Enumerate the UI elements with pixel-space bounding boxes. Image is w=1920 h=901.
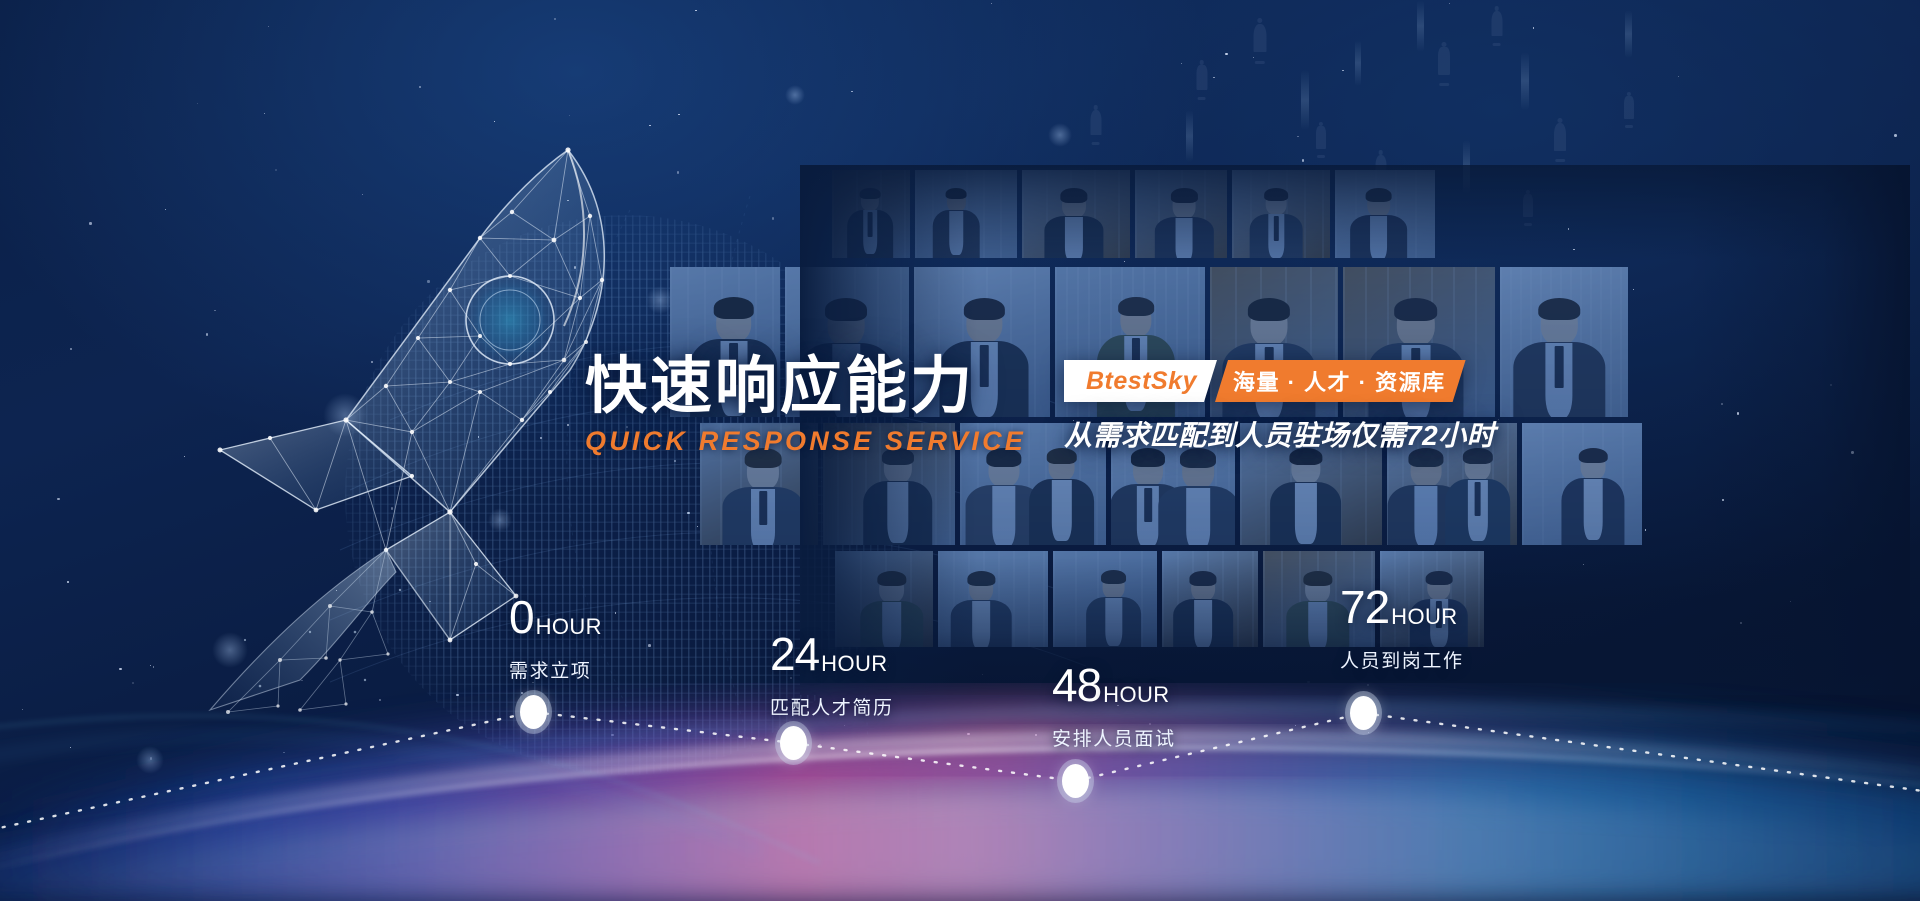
milestone-unit: HOUR: [1391, 604, 1457, 630]
people-silhouette-icon: [1316, 122, 1326, 158]
person-photo: [832, 170, 910, 258]
timeline-dot-icon[interactable]: [1350, 696, 1377, 730]
page-subtitle-en: QUICK RESPONSE SERVICE: [585, 426, 1026, 457]
brand-badge: BtestSky 海量 · 人才 · 资源库: [1064, 360, 1466, 402]
timeline-dot-icon[interactable]: [780, 726, 807, 760]
headline-block: 快速响应能力 QUICK RESPONSE SERVICE: [585, 355, 1026, 457]
milestone-label: 需求立项: [509, 656, 602, 683]
timeline-milestone[interactable]: 0HOUR需求立项: [509, 594, 602, 683]
people-silhouette-icon: [1438, 42, 1450, 86]
person-photo: [938, 551, 1048, 647]
timeline-milestone[interactable]: 48HOUR安排人员面试: [1052, 662, 1176, 751]
person-photo: [915, 170, 1017, 258]
light-bar-decoration: [1301, 70, 1309, 130]
light-bar-decoration: [1355, 40, 1361, 86]
light-bar-decoration: [1417, 0, 1424, 52]
timeline-dot-icon[interactable]: [520, 695, 547, 729]
people-silhouette-icon: [1196, 60, 1207, 100]
banner-subtitle: 从需求匹配到人员驻场仅需72小时: [1064, 414, 1495, 454]
light-bar-decoration: [1463, 140, 1470, 194]
person-photo: [1335, 170, 1435, 258]
light-bar-decoration: [1186, 110, 1193, 162]
hero-banner: 快速响应能力 QUICK RESPONSE SERVICE BtestSky 海…: [0, 0, 1920, 901]
brand-name: BtestSky: [1064, 360, 1217, 402]
people-silhouette-icon: [1554, 118, 1566, 162]
page-title: 快速响应能力: [585, 355, 1026, 417]
person-photo: [1022, 170, 1130, 258]
brand-tagline: 海量 · 人才 · 资源库: [1215, 360, 1466, 402]
milestone-hours: 72: [1340, 584, 1389, 630]
light-bar-decoration: [1625, 10, 1632, 58]
milestone-hours: 24: [770, 631, 819, 677]
timeline-milestone[interactable]: 72HOUR人员到岗工作: [1340, 584, 1464, 673]
timeline-dot-icon[interactable]: [1062, 764, 1089, 798]
milestone-hours: 48: [1052, 662, 1101, 708]
people-silhouette-icon: [1491, 6, 1502, 46]
people-silhouette-icon: [1624, 92, 1634, 128]
milestone-hours: 0: [509, 594, 534, 640]
people-silhouette-icon: [1090, 105, 1101, 145]
milestone-label: 匹配人才简历: [770, 693, 894, 720]
person-photo: [1135, 170, 1227, 258]
person-photo: [1162, 551, 1258, 647]
milestone-unit: HOUR: [536, 614, 602, 640]
milestone-unit: HOUR: [1103, 682, 1169, 708]
timeline-milestone[interactable]: 24HOUR匹配人才简历: [770, 631, 894, 720]
milestone-unit: HOUR: [821, 651, 887, 677]
people-silhouette-icon: [1253, 18, 1266, 64]
person-photo: [1500, 267, 1628, 417]
milestone-label: 安排人员面试: [1052, 724, 1176, 751]
person-photo: [1232, 170, 1330, 258]
person-photo: [1522, 423, 1642, 545]
milestone-label: 人员到岗工作: [1340, 646, 1464, 673]
person-photo: [1053, 551, 1157, 647]
photo-row: [832, 170, 1435, 258]
light-bar-decoration: [1521, 52, 1529, 110]
